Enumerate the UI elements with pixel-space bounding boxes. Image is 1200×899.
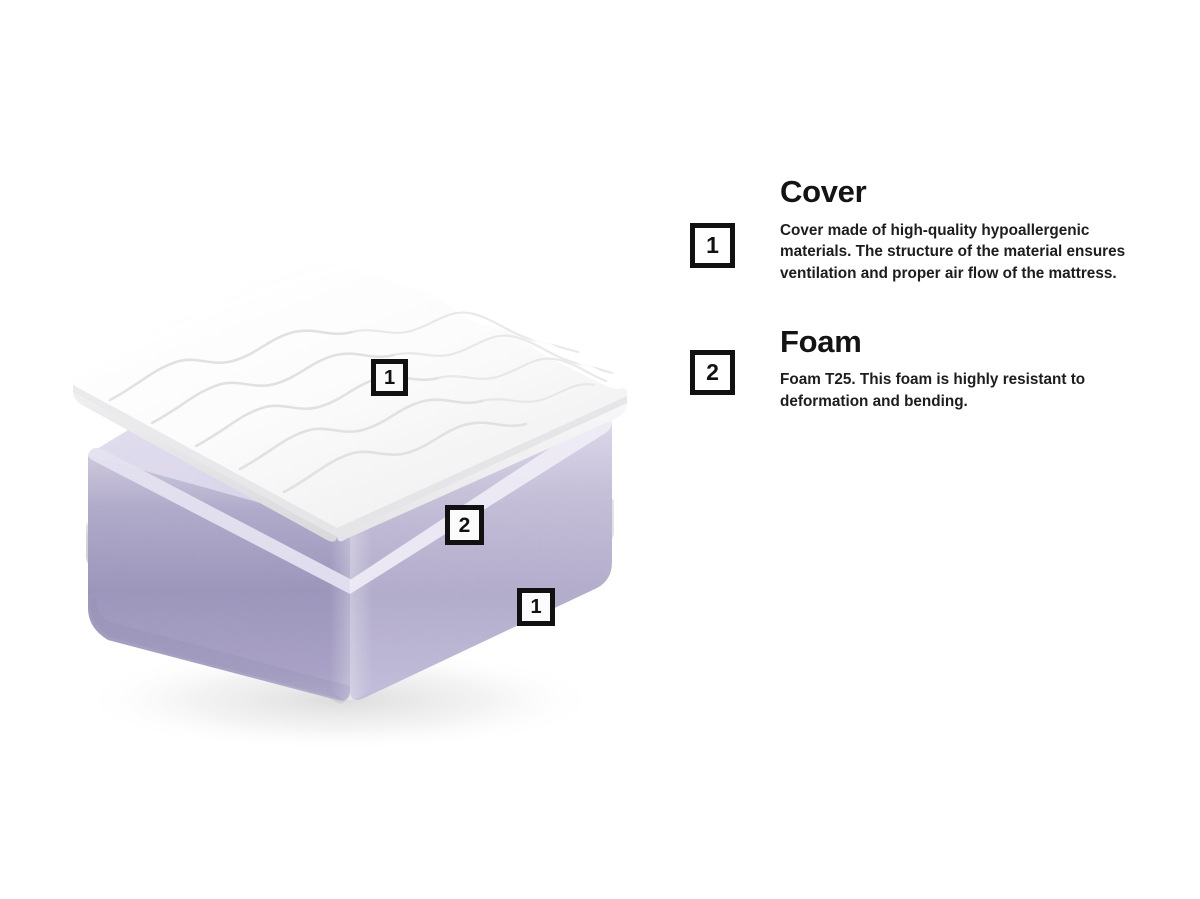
legend-body-foam: Foam Foam T25. This foam is highly resis… [780, 326, 1160, 413]
legend-description-foam: Foam T25. This foam is highly resistant … [780, 369, 1152, 412]
legend-entry-cover: 1 Cover Cover made of high-quality hypoa… [690, 176, 1160, 285]
legend-body-cover: Cover Cover made of high-quality hypoall… [780, 176, 1160, 285]
legend-title-cover: Cover [780, 176, 1160, 209]
mattress-diagram: 1 2 1 [0, 0, 680, 899]
callout-marker-cover-base[interactable]: 1 [517, 588, 555, 626]
legend-title-foam: Foam [780, 326, 1160, 359]
legend-description-cover: Cover made of high-quality hypoallergeni… [780, 220, 1152, 285]
mattress-illustration [0, 0, 680, 899]
callout-marker-foam[interactable]: 2 [445, 505, 484, 545]
legend-entry-foam: 2 Foam Foam T25. This foam is highly res… [690, 326, 1160, 413]
legend-marker-1[interactable]: 1 [690, 223, 735, 268]
page-root: 1 2 1 1 Cover Cover made of high-quality… [0, 0, 1200, 899]
callout-marker-cover-top[interactable]: 1 [371, 359, 408, 396]
legend-marker-2[interactable]: 2 [690, 350, 735, 395]
legend-panel: 1 Cover Cover made of high-quality hypoa… [690, 176, 1160, 413]
